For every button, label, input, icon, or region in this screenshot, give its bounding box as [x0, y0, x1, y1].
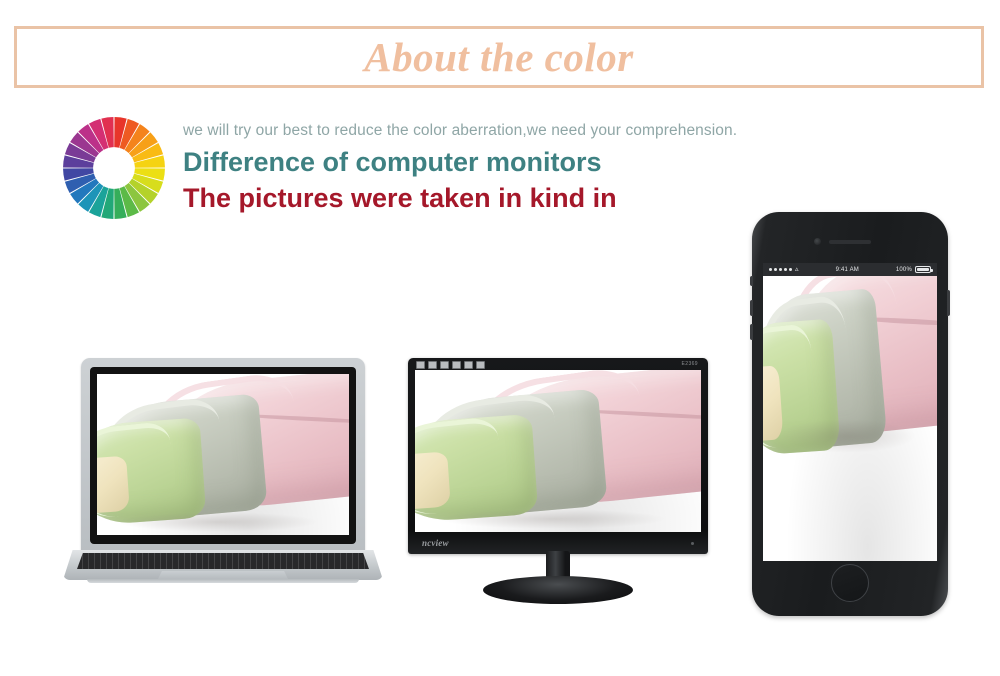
monitor-difference-heading: Difference of computer monitors	[183, 145, 903, 180]
description-block: we will try our best to reduce the color…	[183, 120, 903, 216]
laptop-lid	[81, 358, 365, 554]
signal-dot-icon	[774, 268, 777, 271]
power-icon[interactable]	[416, 361, 425, 369]
status-battery-group: 100%	[896, 266, 931, 273]
laptop-screen	[97, 374, 349, 535]
monitor-model-label: E2369	[682, 361, 698, 367]
product-photo-monitor	[415, 370, 701, 532]
brightness-icon[interactable]	[428, 361, 437, 369]
monitor-screen	[415, 370, 701, 532]
laptop-front-lip	[87, 579, 359, 583]
mute-switch[interactable]	[750, 276, 753, 286]
signal-dot-icon	[784, 268, 787, 271]
battery-percent-label: 100%	[896, 267, 912, 273]
signal-dot-icon	[789, 268, 792, 271]
front-camera-icon	[814, 238, 821, 245]
monitor-power-led	[691, 542, 694, 545]
volume-down-button[interactable]	[750, 324, 753, 340]
phone-status-bar: ▵ 9:41 AM 100%	[763, 263, 937, 276]
page-title: About the color	[364, 33, 633, 81]
laptop-keyboard[interactable]	[77, 553, 369, 569]
input-icon[interactable]	[440, 361, 449, 369]
phone-content-area	[763, 276, 937, 561]
monitor-mockup: E2369 ncview	[408, 358, 708, 603]
monitor-bezel: E2369 ncview	[408, 358, 708, 554]
wifi-icon: ▵	[795, 266, 799, 273]
color-wheel-svg	[62, 116, 166, 220]
settings-icon[interactable]	[476, 361, 485, 369]
signal-dot-icon	[779, 268, 782, 271]
battery-full-icon	[915, 266, 931, 273]
status-time: 9:41 AM	[836, 267, 859, 273]
menu-icon[interactable]	[452, 361, 461, 369]
signal-dot-icon	[769, 268, 772, 271]
volume-up-button[interactable]	[750, 300, 753, 316]
product-photo-laptop	[97, 374, 349, 535]
phone-screen: ▵ 9:41 AM 100%	[763, 263, 937, 561]
monitor-stand-base	[483, 576, 633, 604]
laptop-trackpad[interactable]	[158, 571, 288, 579]
mode-icon[interactable]	[464, 361, 473, 369]
about-the-color-page: About the color we will try our best to …	[0, 0, 1000, 676]
status-signal-group: ▵	[769, 266, 799, 273]
color-wheel-icon	[62, 116, 166, 220]
taken-in-kind-heading: The pictures were taken in kind in	[183, 181, 903, 216]
phone-mockup: ▵ 9:41 AM 100%	[752, 212, 948, 616]
aberration-note: we will try our best to reduce the color…	[183, 120, 903, 142]
home-button[interactable]	[831, 564, 869, 602]
product-photo-phone	[763, 276, 937, 561]
laptop-mockup	[63, 358, 383, 598]
monitor-osd-toolbar[interactable]	[416, 361, 485, 369]
header-banner: About the color	[14, 26, 984, 88]
monitor-brand-label: ncview	[422, 538, 449, 548]
laptop-bezel	[90, 367, 356, 544]
earpiece-speaker	[829, 240, 871, 244]
power-button[interactable]	[947, 290, 950, 316]
